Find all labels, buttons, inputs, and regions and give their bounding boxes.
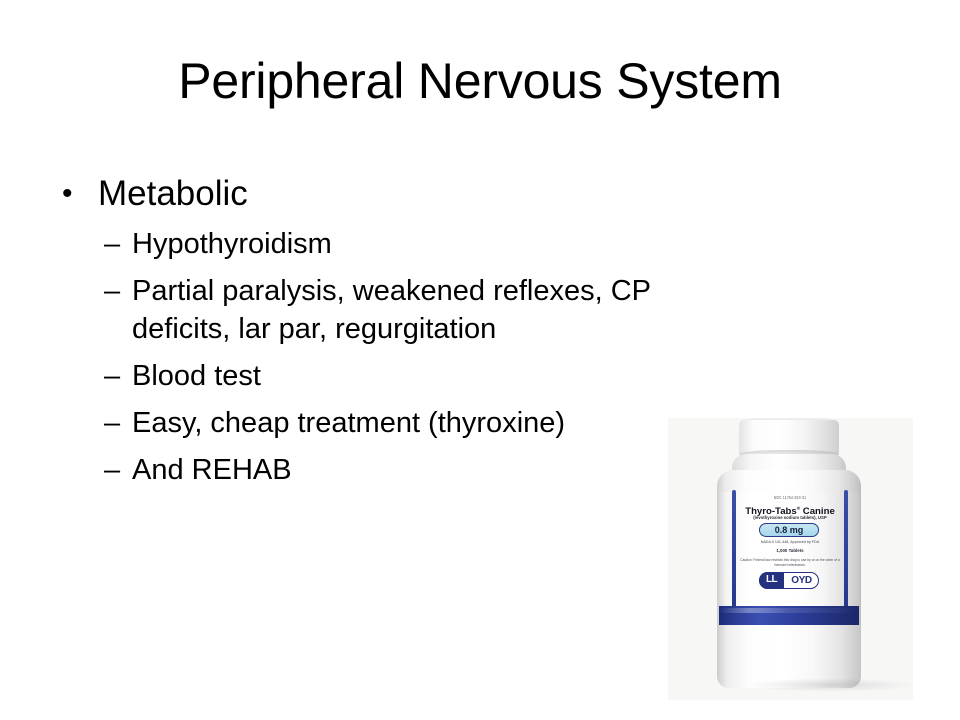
list-item-level1: • Metabolic xyxy=(54,172,664,216)
list-item-partial-paralysis: – Partial paralysis, weakened reflexes, … xyxy=(54,272,664,348)
pill-bottle: NDC 11764-253-31 Thyro-Tabs® Canine (lev… xyxy=(708,420,870,690)
registered-trademark-icon: ® xyxy=(797,506,800,511)
bottle-drop-shadow xyxy=(744,678,913,692)
content-list: • Metabolic – Hypothyroidism – Partial p… xyxy=(54,172,664,489)
bullet-dash-icon: – xyxy=(104,404,120,442)
label-ndc-code: NDC 11764-253-31 xyxy=(738,495,842,501)
bullet-dash-icon: – xyxy=(104,272,120,310)
pill-bottle-photo: NDC 11764-253-31 Thyro-Tabs® Canine (lev… xyxy=(668,418,913,700)
bullet-dash-icon: – xyxy=(104,225,120,263)
label-band-gloss xyxy=(719,608,859,613)
page-title: Peripheral Nervous System xyxy=(0,52,960,110)
list-item-hypothyroidism: – Hypothyroidism xyxy=(54,225,664,263)
list-item-easy-cheap-treatment: – Easy, cheap treatment (thyroxine) xyxy=(54,404,664,442)
slide: Peripheral Nervous System • Metabolic – … xyxy=(0,0,960,720)
lloyd-logo-text: OYD xyxy=(785,573,818,589)
label-dose-badge: 0.8 mg xyxy=(759,523,819,537)
list-item-and-rehab: – And REHAB xyxy=(54,451,664,489)
list-item-blood-test: – Blood test xyxy=(54,357,664,395)
bullet-dash-icon: – xyxy=(104,357,120,395)
label-caution-text: Caution: Federal law restricts this drug… xyxy=(738,558,842,567)
list-item-level2-label: Easy, cheap treatment (thyroxine) xyxy=(132,404,664,442)
label-approval-text: NADA # 141-448, Approved by FDA xyxy=(734,540,846,545)
lloyd-logo-mark: LL xyxy=(759,572,784,589)
label-generic-name: (levothyroxine sodium tablets), USP xyxy=(734,515,846,521)
bullet-dot-icon: • xyxy=(62,172,73,216)
label-tablet-count: 1,000 Tablets xyxy=(734,548,846,554)
lloyd-logo: LL OYD xyxy=(759,572,819,589)
list-item-level2-label: Hypothyroidism xyxy=(132,225,664,263)
list-item-level1-label: Metabolic xyxy=(98,174,248,213)
list-item-level2-label: Blood test xyxy=(132,357,664,395)
bullet-dash-icon: – xyxy=(104,451,120,489)
list-item-level2-label: Partial paralysis, weakened reflexes, CP… xyxy=(132,272,664,348)
list-item-level2-label: And REHAB xyxy=(132,451,664,489)
